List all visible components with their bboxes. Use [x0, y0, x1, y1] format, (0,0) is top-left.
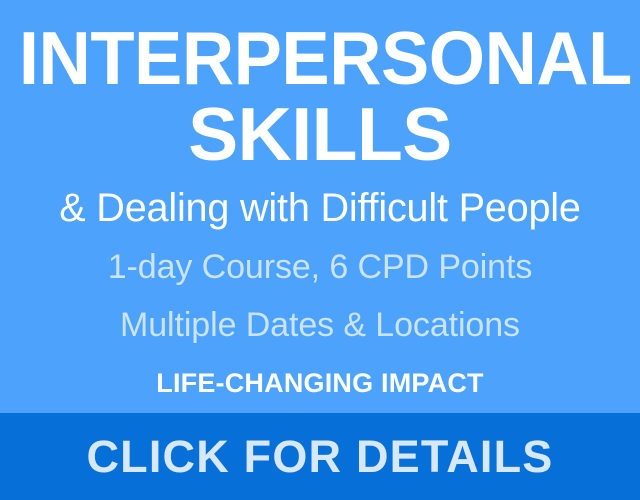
- advertisement-banner[interactable]: INTERPERSONAL SKILLS & Dealing with Diff…: [0, 0, 640, 500]
- banner-content: INTERPERSONAL SKILLS & Dealing with Diff…: [0, 0, 640, 413]
- headline-line-1: INTERPERSONAL: [19, 22, 621, 96]
- impact-statement: LIFE-CHANGING IMPACT: [0, 368, 640, 399]
- course-detail-dates-locations: Multiple Dates & Locations: [0, 308, 640, 342]
- cta-button-label: CLICK FOR DETAILS: [86, 434, 553, 479]
- banner-headline: INTERPERSONAL SKILLS: [0, 22, 640, 171]
- headline-line-2: SKILLS: [8, 98, 632, 172]
- banner-subheadline: & Dealing with Difficult People: [3, 188, 637, 228]
- cta-button[interactable]: CLICK FOR DETAILS: [0, 413, 640, 500]
- course-detail-duration-cpd: 1-day Course, 6 CPD Points: [0, 250, 640, 284]
